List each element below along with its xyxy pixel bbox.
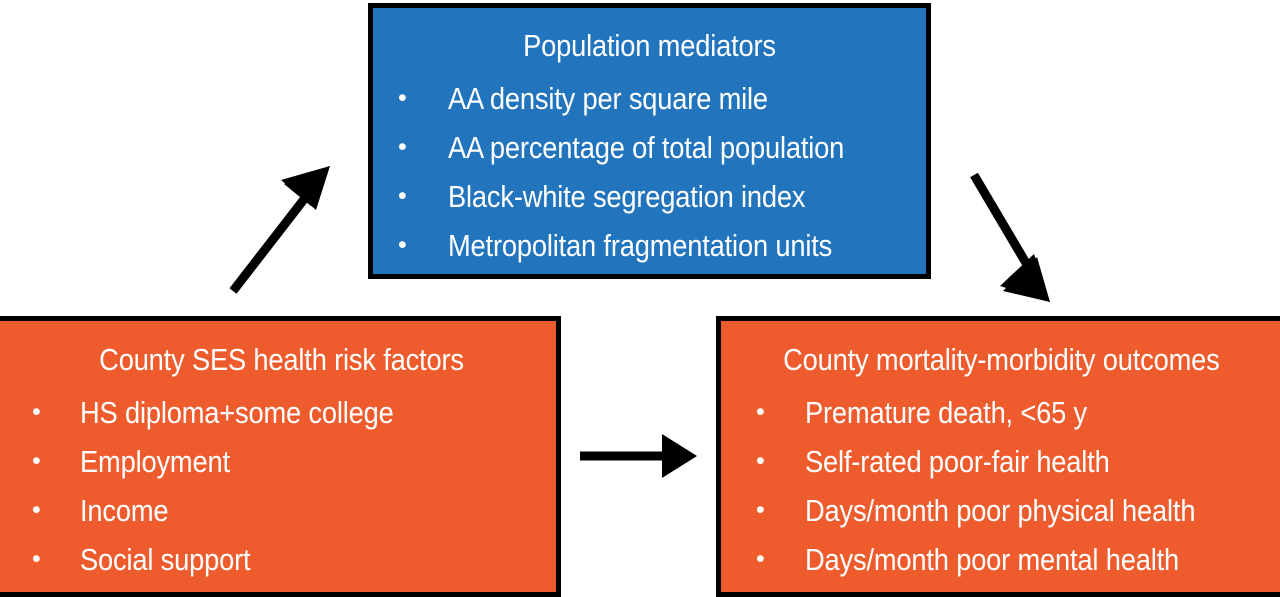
bullet-icon: • bbox=[398, 123, 407, 172]
arrow-risk-factors-to-mediators bbox=[233, 166, 330, 291]
list-item-label: HS diploma+some college bbox=[80, 388, 394, 437]
concept-diagram: Population mediators • AA density per sq… bbox=[0, 0, 1280, 597]
county-ses-risk-factors-list: • HS diploma+some college • Employment •… bbox=[0, 388, 556, 584]
list-item: • HS diploma+some college bbox=[32, 388, 556, 437]
list-item: • Self-rated poor-fair health bbox=[756, 437, 1280, 486]
population-mediators-box: Population mediators • AA density per sq… bbox=[368, 3, 931, 279]
list-item: • Income bbox=[32, 486, 556, 535]
bullet-icon: • bbox=[756, 388, 765, 437]
list-item-label: AA percentage of total population bbox=[448, 123, 844, 172]
population-mediators-list: • AA density per square mile • AA percen… bbox=[373, 74, 926, 270]
bullet-icon: • bbox=[32, 535, 41, 584]
county-mortality-morbidity-outcomes-list: • Premature death, <65 y • Self-rated po… bbox=[721, 388, 1280, 584]
bullet-icon: • bbox=[398, 74, 407, 123]
list-item-label: Income bbox=[80, 486, 168, 535]
county-mortality-morbidity-outcomes-title: County mortality-morbidity outcomes bbox=[755, 321, 1247, 378]
list-item-label: Black-white segregation index bbox=[448, 172, 805, 221]
list-item-label: AA density per square mile bbox=[448, 74, 768, 123]
list-item: • Days/month poor physical health bbox=[756, 486, 1280, 535]
bullet-icon: • bbox=[398, 172, 407, 221]
bullet-icon: • bbox=[398, 221, 407, 270]
list-item-label: Metropolitan fragmentation units bbox=[448, 221, 832, 270]
bullet-icon: • bbox=[32, 437, 41, 486]
population-mediators-title: Population mediators bbox=[406, 8, 893, 64]
list-item-label: Self-rated poor-fair health bbox=[805, 437, 1110, 486]
list-item: • Social support bbox=[32, 535, 556, 584]
list-item: • Black-white segregation index bbox=[398, 172, 926, 221]
list-item: • Premature death, <65 y bbox=[756, 388, 1280, 437]
bullet-icon: • bbox=[756, 437, 765, 486]
list-item: • AA density per square mile bbox=[398, 74, 926, 123]
bullet-icon: • bbox=[32, 486, 41, 535]
list-item-label: Days/month poor physical health bbox=[805, 486, 1195, 535]
bullet-icon: • bbox=[32, 388, 41, 437]
county-ses-risk-factors-title: County SES health risk factors bbox=[33, 321, 522, 378]
bullet-icon: • bbox=[756, 535, 765, 584]
list-item: • Employment bbox=[32, 437, 556, 486]
list-item: • Days/month poor mental health bbox=[756, 535, 1280, 584]
county-ses-risk-factors-box: County SES health risk factors • HS dipl… bbox=[0, 316, 561, 597]
list-item-label: Days/month poor mental health bbox=[805, 535, 1179, 584]
bullet-icon: • bbox=[756, 486, 765, 535]
list-item: • Metropolitan fragmentation units bbox=[398, 221, 926, 270]
arrow-risk-factors-to-outcomes bbox=[580, 434, 697, 478]
arrow-mediators-to-outcomes bbox=[974, 175, 1050, 302]
county-mortality-morbidity-outcomes-box: County mortality-morbidity outcomes • Pr… bbox=[716, 316, 1280, 597]
list-item-label: Social support bbox=[80, 535, 250, 584]
list-item: • AA percentage of total population bbox=[398, 123, 926, 172]
list-item-label: Employment bbox=[80, 437, 230, 486]
list-item-label: Premature death, <65 y bbox=[805, 388, 1087, 437]
